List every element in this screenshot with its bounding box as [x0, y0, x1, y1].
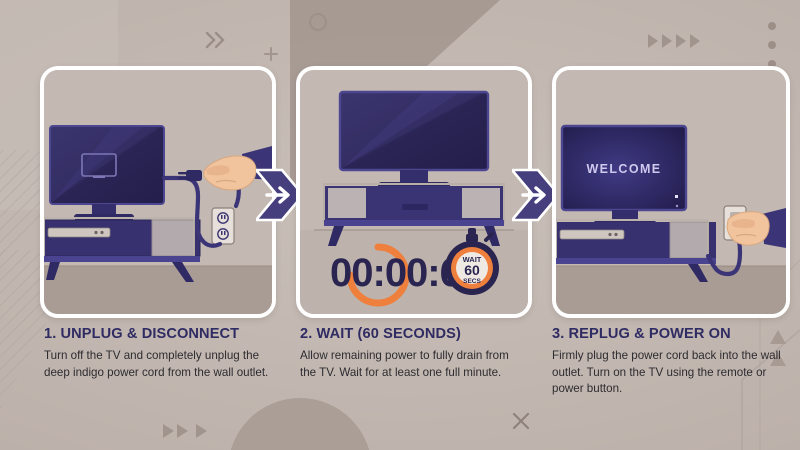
step-3-body: Firmly plug the power cord back into the…: [552, 348, 788, 397]
step-card-3: WELCOME: [552, 66, 790, 318]
step-3-title: 3. REPLUG & POWER ON: [552, 326, 788, 342]
tv-unplug-scene: [44, 70, 272, 314]
step-1-body: Turn off the TV and completely unplug th…: [44, 348, 272, 381]
step-caption-1: 1. UNPLUG & DISCONNECT Turn off the TV a…: [44, 326, 272, 381]
deco-triangles-top-right: [648, 34, 700, 48]
deco-chevrons-top-left: [207, 33, 223, 47]
deco-triangles-bottom-left: [163, 424, 207, 438]
floor: [44, 266, 272, 314]
wall-outlet: [212, 208, 234, 244]
stopwatch-value: 60: [464, 262, 480, 278]
hand-holding-plug: [727, 208, 786, 248]
deco-circle-bottom: [228, 398, 372, 450]
deco-dots-right: [768, 22, 776, 68]
step-card-2: 00:00:60 WAIT 60 SECS: [296, 66, 532, 318]
deco-plus-top-left: [265, 48, 277, 60]
step-2-body: Allow remaining power to fully drain fro…: [300, 348, 528, 381]
tv-replug-scene: WELCOME: [556, 70, 786, 314]
tv-unit: WELCOME: [562, 126, 686, 226]
step-caption-3: 3. REPLUG & POWER ON Firmly plug the pow…: [552, 326, 788, 397]
step-1-title: 1. UNPLUG & DISCONNECT: [44, 326, 272, 342]
floor: [556, 266, 786, 314]
step-2-title: 2. WAIT (60 SECONDS): [300, 326, 528, 342]
tv-wait-scene: 00:00:60 WAIT 60 SECS: [300, 70, 528, 314]
infographic-canvas: 00:00:60 WAIT 60 SECS: [0, 0, 800, 450]
stopwatch-unit: SECS: [463, 278, 481, 285]
deco-cross-bottom-right: [514, 414, 528, 428]
step-card-1: [40, 66, 276, 318]
step-caption-2: 2. WAIT (60 SECONDS) Allow remaining pow…: [300, 326, 528, 381]
tv-screen-label: WELCOME: [586, 162, 661, 176]
